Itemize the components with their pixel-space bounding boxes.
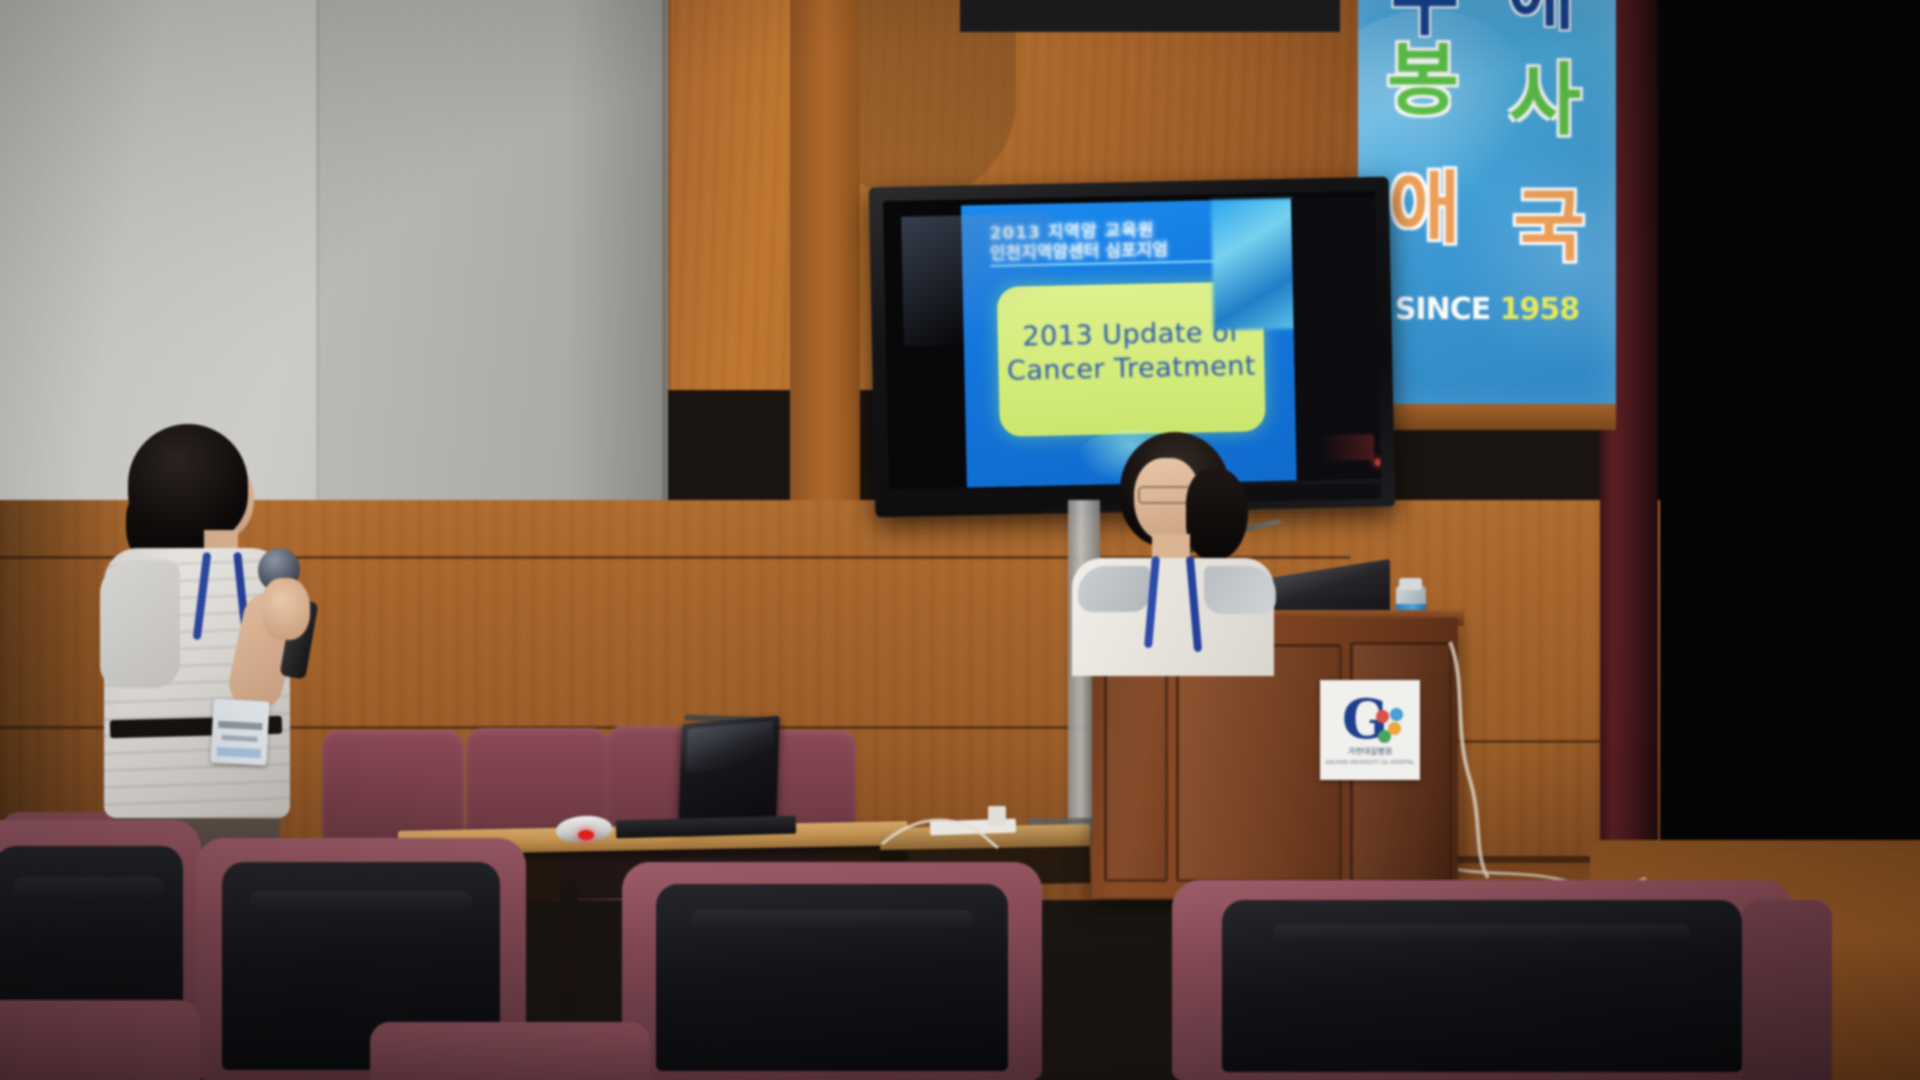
podium-cable: [1444, 640, 1504, 880]
standing-speaker-hair: [128, 424, 248, 544]
standing-speaker-hand: [262, 578, 310, 640]
wall-banner: 구 애 봉 사 애 국 SINCE 1958: [1358, 0, 1616, 410]
logo-dot-blue: [1390, 708, 1403, 721]
wall-shadow: [566, 0, 671, 525]
water-bottle-cap: [1399, 578, 1422, 590]
ceiling-dark-strip: [960, 0, 1340, 32]
slide-title-line1: 2013 Update of: [1022, 317, 1239, 353]
foreground-seat-cushion: [370, 1022, 650, 1080]
seat-highlight: [13, 877, 164, 899]
slide-title-line2: Cancer Treatment: [1007, 350, 1257, 386]
seat-highlight: [1274, 924, 1691, 941]
since-year: 1958: [1500, 292, 1580, 327]
power-cable: [880, 810, 1000, 850]
tv-brand-reflection: [1318, 434, 1375, 461]
blouse-shoulder-panel: [1204, 566, 1276, 614]
name-badge: [210, 699, 269, 766]
wall-panel-seam: [316, 0, 320, 520]
blouse-sleeve: [100, 560, 180, 688]
banner-since-text: SINCE 1958: [1358, 292, 1616, 327]
logo-english-text: GACHON UNIVERSITY GIL HOSPITAL: [1320, 760, 1420, 766]
stage-backdrop: [1640, 0, 1920, 860]
conference-photo-scene: 구 애 봉 사 애 국 SINCE 1958 2013 지역암 교육원 인천지역…: [0, 0, 1920, 1080]
banner-char-top-1: 구: [1382, 0, 1468, 40]
seat-highlight: [691, 910, 973, 929]
badge-line: [217, 747, 261, 758]
wood-pilaster: [790, 0, 860, 520]
foreground-seat-arm: [1742, 900, 1832, 1080]
logo-dot-red: [1376, 710, 1389, 723]
logo-dot-green: [1378, 730, 1391, 743]
seat-highlight: [250, 891, 472, 912]
banner-char-mid-2: 사: [1500, 62, 1590, 140]
banner-char-top-2: 애: [1498, 0, 1584, 34]
seat-back-panel: [1222, 900, 1743, 1072]
slide-photo-corner: [1211, 199, 1296, 331]
foreground-seat: [1172, 880, 1792, 1080]
foreground-seat: [622, 862, 1042, 1080]
podium-speaker-hair-side: [1186, 468, 1248, 560]
hospital-logo-plate: G 가천대길병원 GACHON UNIVERSITY GIL HOSPITAL: [1320, 680, 1420, 780]
banner-char-low-1: 애: [1380, 170, 1470, 248]
badge-line: [218, 721, 262, 730]
blouse-shoulder-panel: [1078, 566, 1150, 612]
laptop-screen-glare: [686, 721, 773, 773]
stage-seat: [322, 730, 464, 840]
mouse-led-icon: [578, 830, 594, 840]
logo-korean-text: 가천대길병원: [1320, 746, 1420, 757]
banner-bottom-trim: [1358, 404, 1616, 430]
tv-power-led-icon: [1374, 459, 1380, 466]
screen-glare: [901, 214, 1054, 347]
seat-back-panel: [656, 884, 1009, 1071]
banner-char-low-2: 국: [1504, 188, 1594, 266]
podium-panel: [1176, 644, 1342, 882]
tv-screen: 2013 지역암 교육원 인천지역암센터 심포지엄 2013 Update of…: [883, 191, 1381, 489]
badge-line: [222, 735, 258, 742]
banner-char-mid-1: 봉: [1378, 42, 1468, 120]
foreground-seat-cushion: [0, 1000, 200, 1080]
since-label: SINCE: [1395, 292, 1500, 327]
podium-panel: [1104, 646, 1168, 882]
table-laptop-screen[interactable]: [678, 716, 780, 831]
